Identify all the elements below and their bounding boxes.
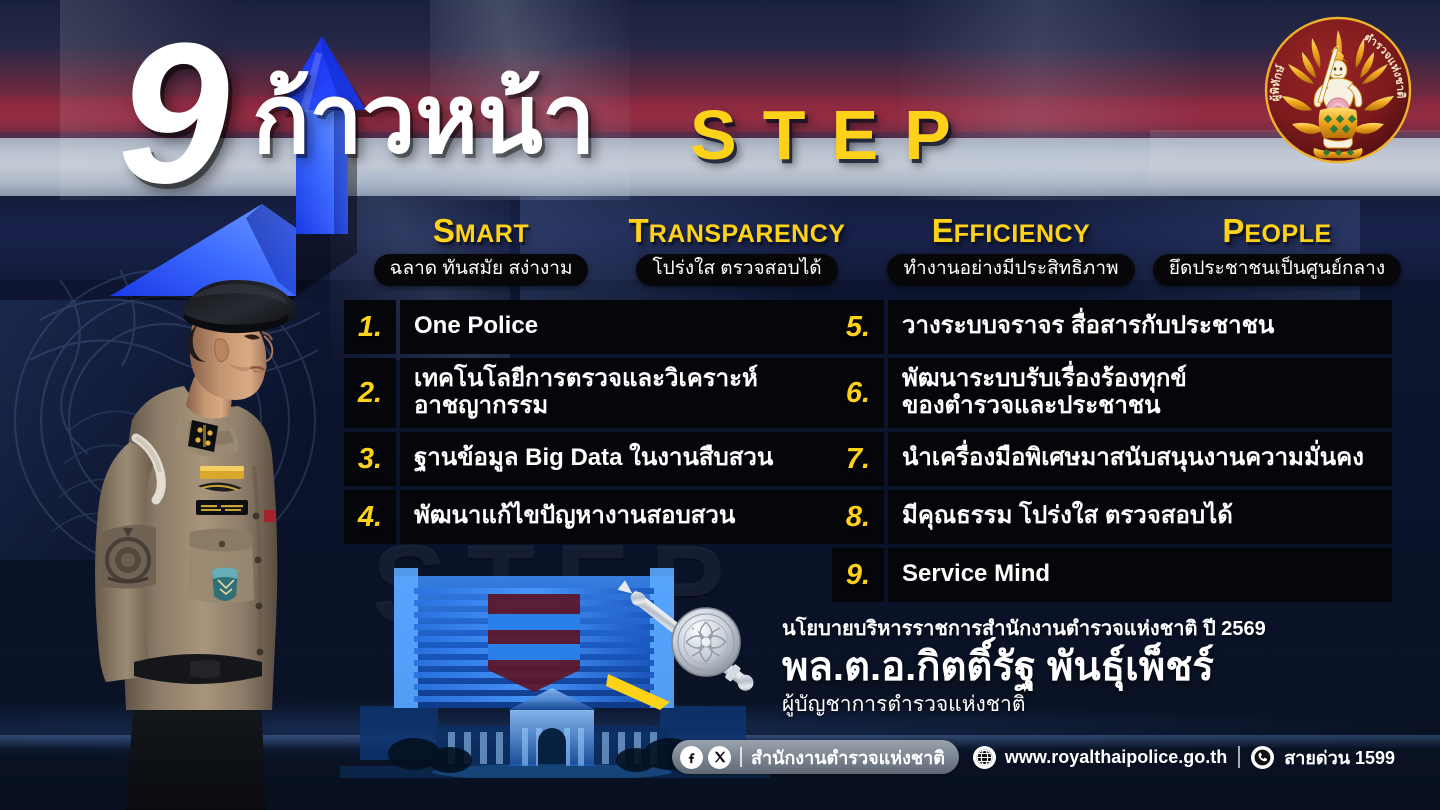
acronym-thai-pill: ฉลาด ทันสมัย สง่างาม [374,254,589,286]
acronym-item-transparency: TRANSPARENCY โปร่งใส ตรวจสอบได้ [592,212,882,286]
step-heading: STEP [690,100,977,170]
list-item[interactable]: 3. ฐานข้อมูล Big Data ในงานสืบสวน [344,432,834,486]
acronym-thai-pill: ทำงานอย่างมีประสิทธิภาพ [887,254,1134,286]
list-column-right: 5. วางระบบจราจร สื่อสารกับประชาชน 6. พัฒ… [832,300,1392,606]
list-item-text: ฐานข้อมูล Big Data ในงานสืบสวน [400,432,834,486]
divider [740,747,742,767]
social-label: สำนักงานตำรวจแห่งชาติ [751,743,945,772]
commissioner-name: พล.ต.อ.กิตติ์รัฐ พันธุ์เพ็ชร์ [782,643,1302,691]
list-item[interactable]: 5. วางระบบจราจร สื่อสารกับประชาชน [832,300,1392,354]
divider [1238,746,1240,768]
hotline-text: สายด่วน 1599 [1284,743,1395,772]
acronym-thai-pill: โปร่งใส ตรวจสอบได้ [636,254,837,286]
list-item-text-line1: พัฒนาระบบรับเรื่องร้องทุกข์ [902,365,1187,392]
list-item[interactable]: 1. One Police [344,300,834,354]
acronym-rest: RANSPARENCY [649,220,846,248]
list-column-left: 1. One Police 2. เทคโนโลยีการตรวจและวิเค… [344,300,834,548]
acronym-thai-pill: ยึดประชาชนเป็นศูนย์กลาง [1153,254,1401,286]
list-item-text: One Police [400,300,834,354]
list-item-text: นำเครื่องมือพิเศษมาสนับสนุนงานความมั่นคง [888,432,1392,486]
acronym-item-people: PEOPLE ยึดประชาชนเป็นศูนย์กลาง [1142,212,1412,286]
policy-line: นโยบายบริหารราชการสำนักงานตำรวจแห่งชาติ … [782,616,1302,642]
list-item[interactable]: 7. นำเครื่องมือพิเศษมาสนับสนุนงานความมั่… [832,432,1392,486]
list-item[interactable]: 9. Service Mind [832,548,1392,602]
list-item-number: 5. [832,300,884,354]
list-item-text-line1: เทคโนโลยีการตรวจและวิเคราะห์ [414,365,758,392]
list-item-number: 8. [832,490,884,544]
title-thai: ก้าวหน้า [252,70,595,170]
acronym-rest: FFICIENCY [954,220,1090,248]
social-pill[interactable]: สำนักงานตำรวจแห่งชาติ [672,740,959,774]
website-group[interactable]: www.royalthaipolice.go.th [973,746,1227,769]
list-item-number: 9. [832,548,884,602]
acronym-row: SMART ฉลาด ทันสมัย สง่างาม TRANSPARENCY … [356,212,1396,292]
police-officer-portrait [40,270,370,810]
list-item-number: 6. [832,358,884,428]
acronym-cap: T [629,212,649,249]
list-item-text-line2: อาชญากรรม [414,392,758,419]
globe-icon [973,746,996,769]
acronym-rest: MART [455,220,529,248]
nine-point-list: 1. One Police 2. เทคโนโลยีการตรวจและวิเค… [344,300,1392,596]
signature-block: นโยบายบริหารราชการสำนักงานตำรวจแห่งชาติ … [782,616,1302,718]
list-item[interactable]: 6. พัฒนาระบบรับเรื่องร้องทุกข์ ของตำรวจแ… [832,358,1392,428]
list-item[interactable]: 4. พัฒนาแก้ไขปัญหางานสอบสวน [344,490,834,544]
x-twitter-icon[interactable] [708,746,731,769]
list-item-number: 7. [832,432,884,486]
list-item-text: มีคุณธรรม โปร่งใส ตรวจสอบได้ [888,490,1392,544]
acronym-cap: S [433,212,455,249]
infographic-poster: STEP [0,0,1440,810]
list-item[interactable]: 2. เทคโนโลยีการตรวจและวิเคราะห์ อาชญากรร… [344,358,834,428]
acronym-word: SMART [356,212,606,250]
acronym-word: PEOPLE [1142,212,1412,250]
hotline-group[interactable]: สายด่วน 1599 [1251,743,1395,772]
list-item-text: พัฒนาระบบรับเรื่องร้องทุกข์ ของตำรวจและป… [888,358,1392,428]
footer-bar: สำนักงานตำรวจแห่งชาติ www.royalthaipolic… [672,740,1395,774]
facebook-icon[interactable] [680,746,703,769]
list-item[interactable]: 8. มีคุณธรรม โปร่งใส ตรวจสอบได้ [832,490,1392,544]
acronym-rest: EOPLE [1244,220,1331,248]
acronym-word: TRANSPARENCY [592,212,882,250]
list-item-text: พัฒนาแก้ไขปัญหางานสอบสวน [400,490,834,544]
big-numeral-nine: 9 [118,14,221,214]
list-item-text: Service Mind [888,548,1392,602]
royal-thai-police-emblem: ผู้พิทักษ์ ตำรวจแห่งชาติ [1262,14,1414,166]
website-url: www.royalthaipolice.go.th [1005,747,1227,768]
acronym-cap: E [932,212,954,249]
acronym-word: EFFICIENCY [876,212,1146,250]
acronym-cap: P [1222,212,1244,249]
list-item-text: เทคโนโลยีการตรวจและวิเคราะห์ อาชญากรรม [400,358,834,428]
acronym-item-smart: SMART ฉลาด ทันสมัย สง่างาม [356,212,606,286]
phone-icon [1251,746,1274,769]
acronym-item-efficiency: EFFICIENCY ทำงานอย่างมีประสิทธิภาพ [876,212,1146,286]
commissioner-rank: ผู้บัญชาการตำรวจแห่งชาติ [782,692,1302,718]
list-item-text-line2: ของตำรวจและประชาชน [902,392,1187,419]
list-item-text: วางระบบจราจร สื่อสารกับประชาชน [888,300,1392,354]
